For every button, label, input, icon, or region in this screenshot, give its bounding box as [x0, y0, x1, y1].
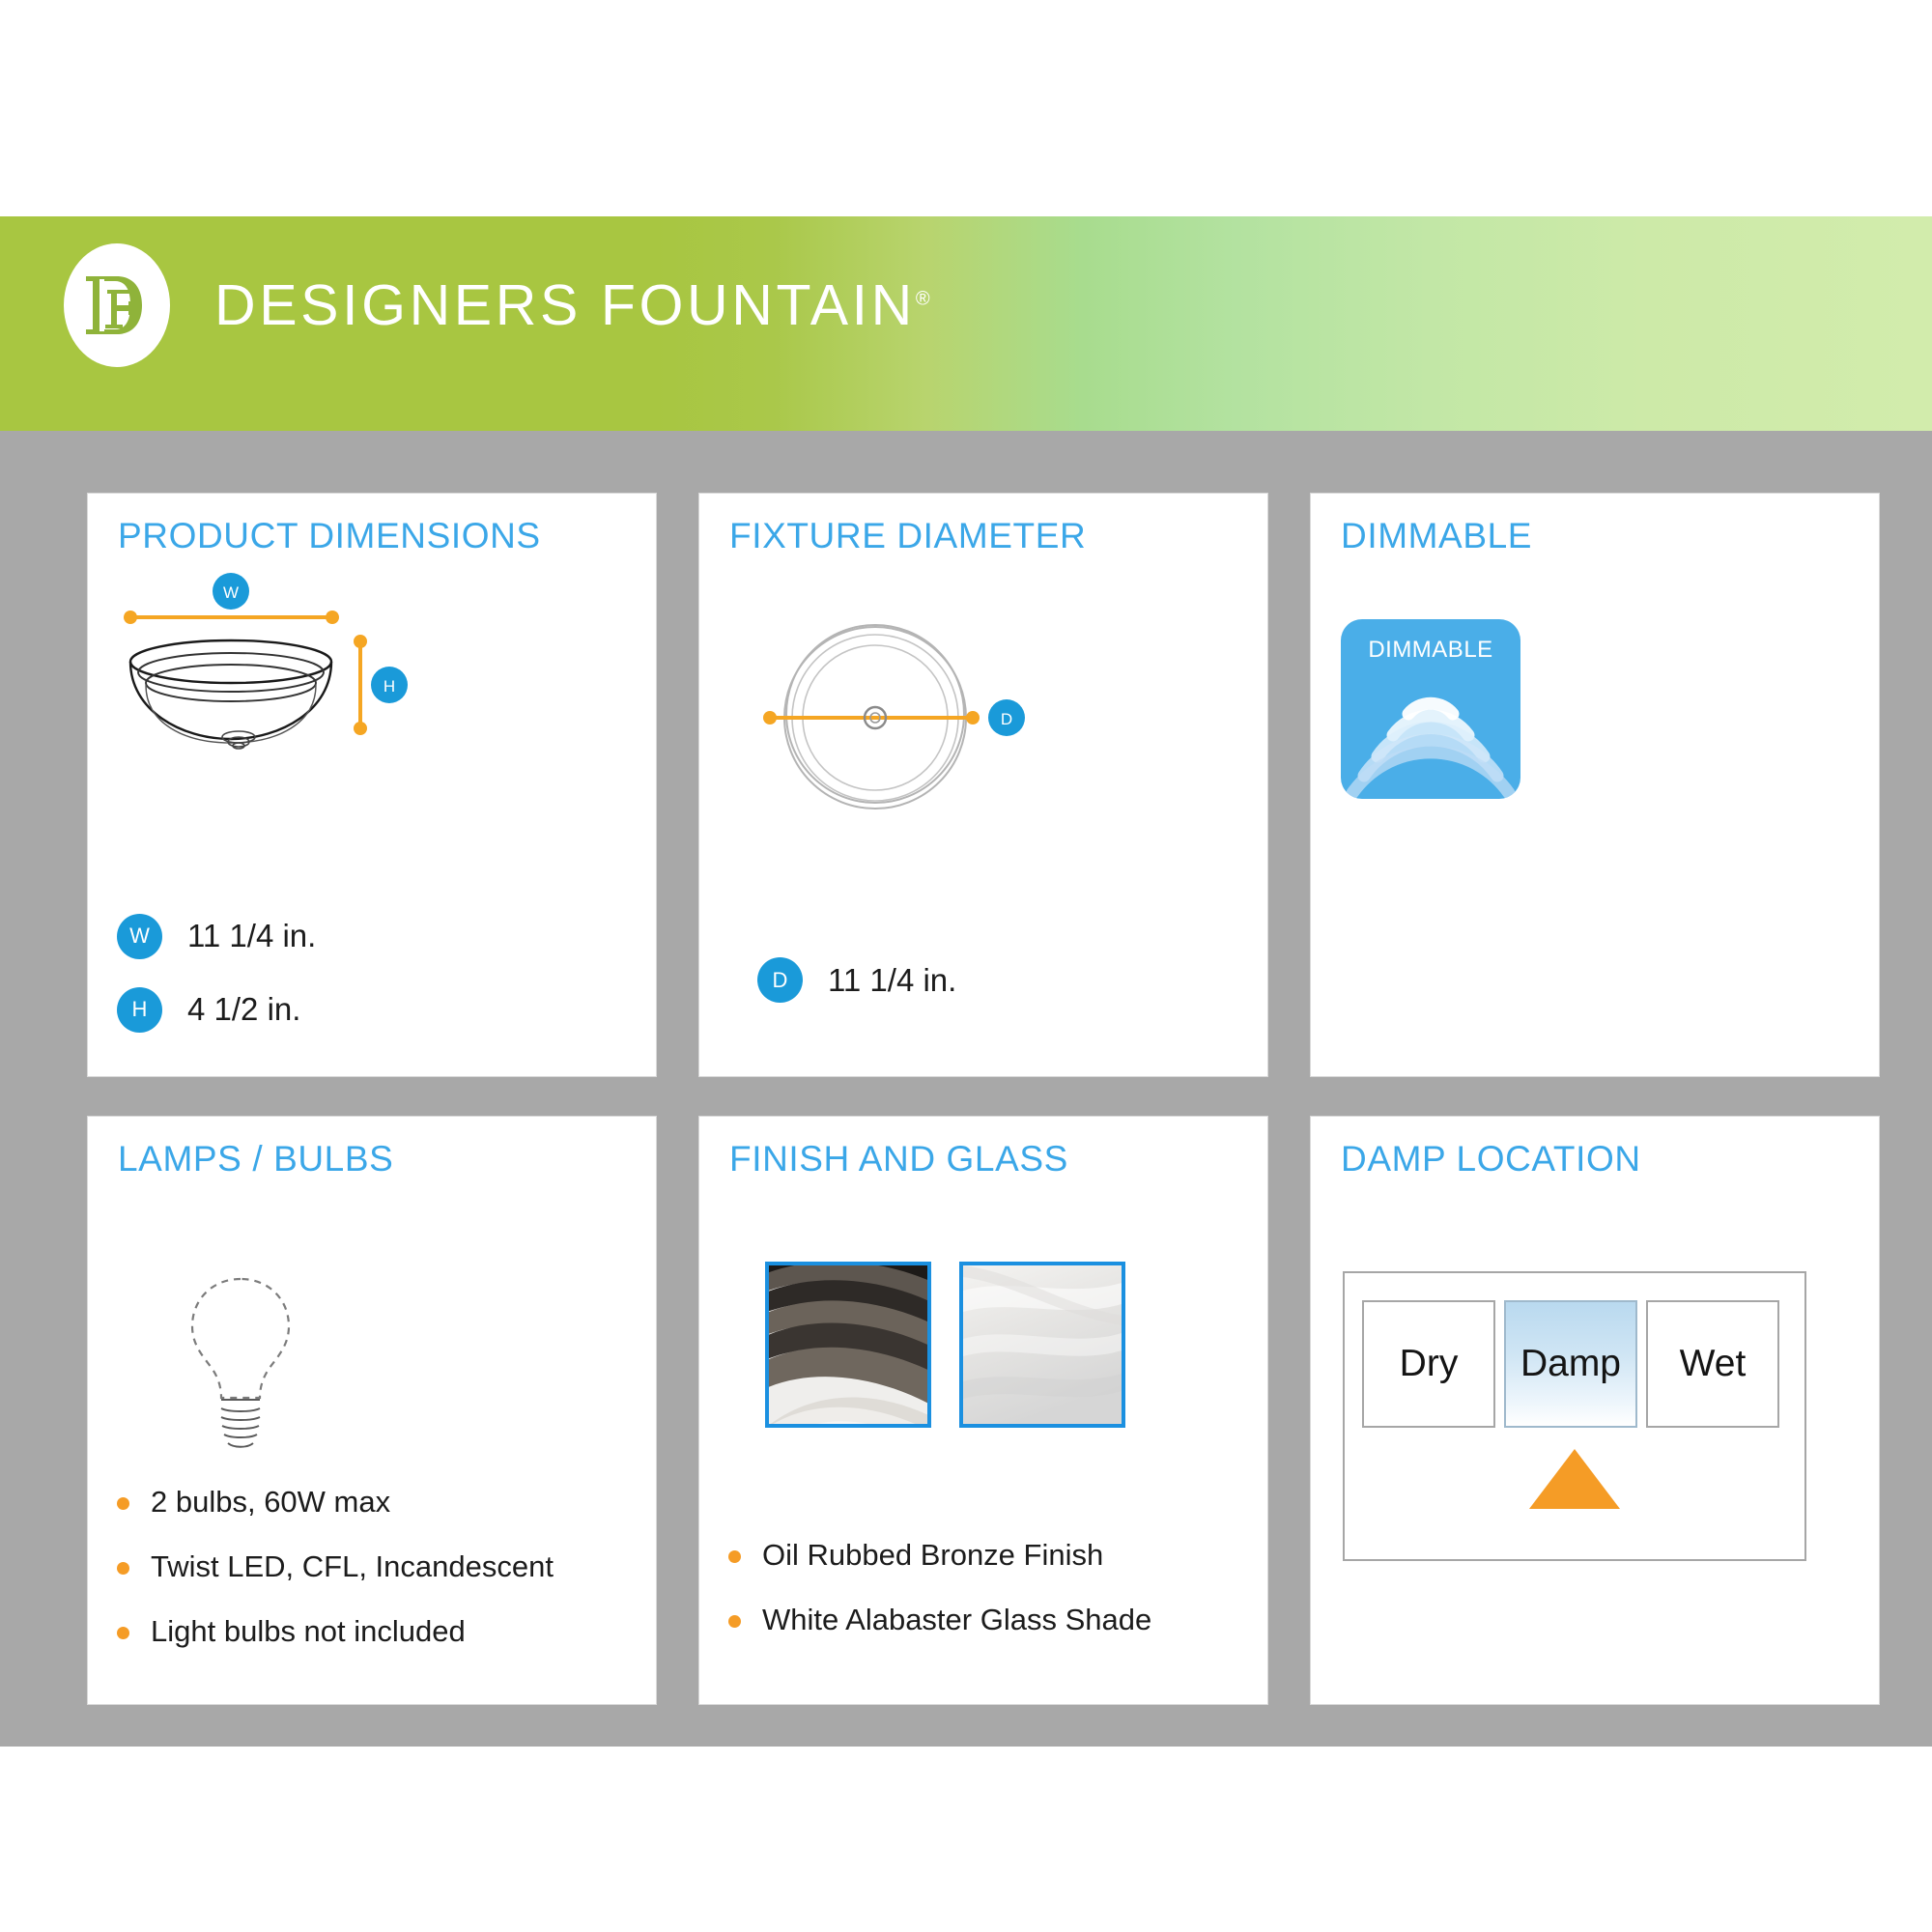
fixture-top-view-diagram: D: [699, 600, 1269, 841]
lamps-bullet-1: 2 bulbs, 60W max: [151, 1484, 390, 1521]
card-dimmable: DIMMABLE DIMMABLE: [1310, 493, 1880, 1077]
card-product-dimensions: PRODUCT DIMENSIONS W H: [87, 493, 657, 1077]
card-lamps-bulbs: LAMPS / BULBS 2 bulbs, 60W max Twist LED…: [87, 1116, 657, 1705]
white-alabaster-glass-swatch: [959, 1262, 1125, 1428]
finish-bullet-list: Oil Rubbed Bronze Finish White Alabaster…: [728, 1537, 1151, 1666]
width-value: 11 1/4 in.: [187, 918, 316, 954]
product-spec-sheet: DESIGNERS FOUNTAIN® PRODUCT DIMENSIONS W…: [0, 0, 1932, 1932]
bullet-dot-icon: [117, 1562, 129, 1575]
dimmable-badge-label: DIMMABLE: [1341, 637, 1520, 664]
location-option-wet: Wet: [1646, 1300, 1779, 1428]
dimension-spec-list: W 11 1/4 in. H 4 1/2 in.: [117, 899, 316, 1046]
df-monogram-icon: [64, 243, 170, 367]
diameter-value: 11 1/4 in.: [828, 962, 956, 999]
finish-bullet-2: White Alabaster Glass Shade: [762, 1602, 1151, 1639]
card-title-lamps-bulbs: LAMPS / BULBS: [118, 1139, 393, 1179]
card-finish-and-glass: FINISH AND GLASS: [698, 1116, 1268, 1705]
list-item: 2 bulbs, 60W max: [117, 1484, 554, 1521]
lamps-bullet-3: Light bulbs not included: [151, 1613, 466, 1651]
spec-row-width: W 11 1/4 in.: [117, 899, 316, 973]
finish-swatch-group: [765, 1262, 1125, 1428]
svg-text:D: D: [1001, 710, 1012, 728]
card-title-product-dimensions: PRODUCT DIMENSIONS: [118, 516, 541, 556]
svg-text:H: H: [384, 677, 395, 696]
brand-wordmark: DESIGNERS FOUNTAIN®: [214, 277, 930, 334]
height-badge-icon: H: [117, 987, 162, 1033]
location-option-damp: Damp: [1504, 1300, 1637, 1428]
bullet-dot-icon: [117, 1497, 129, 1510]
finish-bullet-1: Oil Rubbed Bronze Finish: [762, 1537, 1103, 1575]
brand-logo: DESIGNERS FOUNTAIN®: [64, 243, 930, 367]
selected-location-arrow-icon: [1529, 1449, 1620, 1509]
brand-name-text: DESIGNERS FOUNTAIN: [214, 273, 916, 337]
brand-header: DESIGNERS FOUNTAIN®: [0, 216, 1932, 431]
list-item: Twist LED, CFL, Incandescent: [117, 1548, 554, 1586]
location-rating-options: Dry Damp Wet: [1362, 1300, 1779, 1428]
oil-rubbed-bronze-swatch: [765, 1262, 931, 1428]
card-damp-location: DAMP LOCATION Dry Damp Wet: [1310, 1116, 1880, 1705]
bullet-dot-icon: [728, 1615, 741, 1628]
card-title-dimmable: DIMMABLE: [1341, 516, 1532, 556]
list-item: White Alabaster Glass Shade: [728, 1602, 1151, 1639]
list-item: Light bulbs not included: [117, 1613, 554, 1651]
spec-row-height: H 4 1/2 in.: [117, 973, 316, 1046]
svg-text:W: W: [223, 583, 239, 602]
height-value: 4 1/2 in.: [187, 991, 300, 1028]
lamps-bullet-list: 2 bulbs, 60W max Twist LED, CFL, Incande…: [117, 1484, 554, 1677]
width-badge-icon: W: [117, 914, 162, 959]
list-item: Oil Rubbed Bronze Finish: [728, 1537, 1151, 1575]
card-title-fixture-diameter: FIXTURE DIAMETER: [729, 516, 1086, 556]
lamps-bullet-2: Twist LED, CFL, Incandescent: [151, 1548, 554, 1586]
card-title-finish-and-glass: FINISH AND GLASS: [729, 1139, 1068, 1179]
location-rating-panel: Dry Damp Wet: [1343, 1271, 1806, 1561]
diameter-badge-icon: D: [757, 957, 803, 1003]
card-title-damp-location: DAMP LOCATION: [1341, 1139, 1641, 1179]
fixture-side-view-diagram: W H: [88, 569, 658, 830]
dimmable-icon: DIMMABLE: [1341, 619, 1520, 799]
bullet-dot-icon: [728, 1550, 741, 1563]
dimmable-waves-icon: [1341, 662, 1520, 799]
registered-trademark-icon: ®: [916, 288, 930, 309]
bullet-dot-icon: [117, 1627, 129, 1639]
card-fixture-diameter: FIXTURE DIAMETER D D 11 1/4 in.: [698, 493, 1268, 1077]
spec-row-diameter: D 11 1/4 in.: [757, 957, 956, 1003]
light-bulb-icon: [173, 1271, 308, 1455]
location-option-dry: Dry: [1362, 1300, 1495, 1428]
